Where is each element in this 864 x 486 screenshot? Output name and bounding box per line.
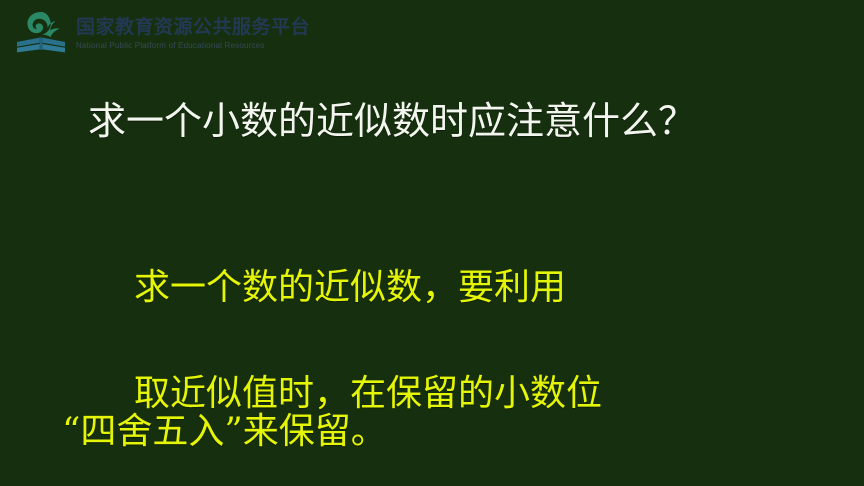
slide-headline: 求一个小数的近似数时应注意什么？ <box>88 98 696 144</box>
answer-line: 取近似值时，在保留的小数位 <box>62 370 612 418</box>
platform-name-en: National Public Platform of Educational … <box>76 40 310 51</box>
answer-paragraph-trailing-zero-rule: 取近似值时，在保留的小数位 里，小数末一位或几位是0的，0应 当保留，不能丢掉。 <box>62 274 612 486</box>
platform-logo-text: 国家教育资源公共服务平台 National Public Platform of… <box>76 15 310 51</box>
platform-name-cn: 国家教育资源公共服务平台 <box>76 17 310 38</box>
lesson-slide: 国家教育资源公共服务平台 National Public Platform of… <box>0 0 864 486</box>
platform-logo: 国家教育资源公共服务平台 National Public Platform of… <box>14 8 294 58</box>
book-sprout-logo-icon <box>14 9 68 57</box>
